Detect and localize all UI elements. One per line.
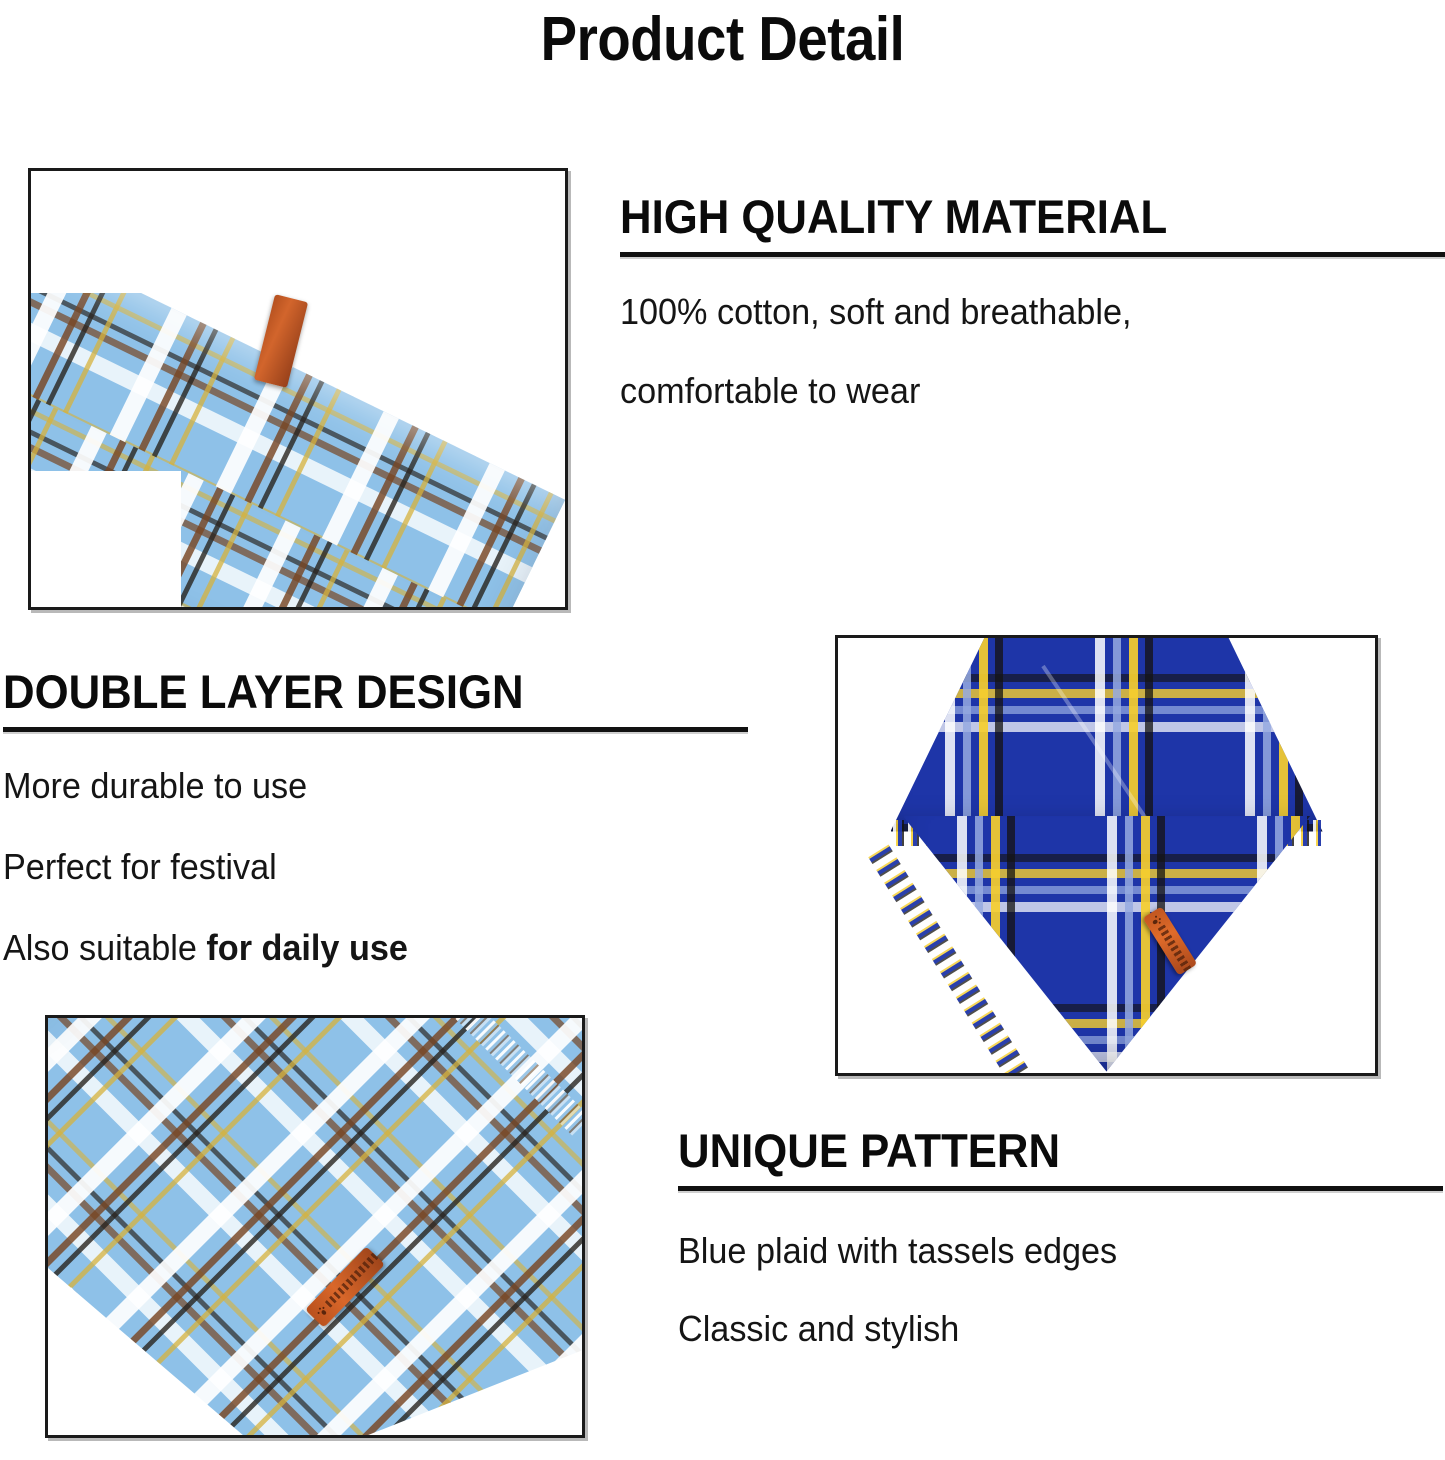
section-body: More durable to use Perfect for festival… bbox=[3, 768, 748, 966]
photo-background-mask bbox=[31, 471, 181, 610]
body-line: 100% cotton, soft and breathable, bbox=[620, 294, 1404, 330]
photo-background-mask bbox=[483, 171, 568, 241]
product-photo-blue-bandana bbox=[835, 635, 1378, 1076]
photo-canvas-folded-scarf bbox=[31, 171, 565, 607]
body-text-bold: for daily use bbox=[206, 927, 407, 968]
photo-canvas-flat-plaid bbox=[48, 1018, 582, 1435]
heading-divider bbox=[620, 252, 1445, 257]
paw-print-icon bbox=[315, 1305, 328, 1318]
photo-background-mask bbox=[31, 171, 149, 293]
section-heading: UNIQUE PATTERN bbox=[678, 1126, 1389, 1175]
page-title: Product Detail bbox=[87, 4, 1359, 75]
section-unique-pattern: UNIQUE PATTERN Blue plaid with tassels e… bbox=[678, 1126, 1443, 1347]
body-text-normal: Also suitable bbox=[3, 927, 206, 968]
product-photo-flat-plaid bbox=[45, 1015, 585, 1438]
bandana-lower-triangle bbox=[903, 816, 1311, 1072]
body-line: Perfect for festival bbox=[3, 849, 711, 885]
section-body: 100% cotton, soft and breathable, comfor… bbox=[620, 294, 1445, 409]
section-double-layer-design: DOUBLE LAYER DESIGN More durable to use … bbox=[3, 667, 748, 966]
heading-divider bbox=[678, 1186, 1443, 1191]
heading-divider bbox=[3, 727, 748, 732]
fold-crease bbox=[1041, 664, 1151, 824]
section-body: Blue plaid with tassels edges Classic an… bbox=[678, 1233, 1443, 1347]
photo-canvas-blue-bandana bbox=[838, 638, 1375, 1073]
body-line: comfortable to wear bbox=[620, 373, 1404, 409]
section-heading: DOUBLE LAYER DESIGN bbox=[3, 667, 696, 716]
section-high-quality-material: HIGH QUALITY MATERIAL 100% cotton, soft … bbox=[620, 192, 1445, 409]
product-photo-folded-scarf bbox=[28, 168, 568, 610]
body-line-mixed: Also suitable for daily use bbox=[3, 930, 711, 966]
bandana-upper-fold bbox=[891, 636, 1323, 832]
body-line: Blue plaid with tassels edges bbox=[678, 1233, 1405, 1269]
section-heading: HIGH QUALITY MATERIAL bbox=[620, 192, 1387, 241]
body-line: More durable to use bbox=[3, 768, 711, 804]
body-line: Classic and stylish bbox=[678, 1311, 1405, 1347]
bandana-shape bbox=[881, 635, 1333, 1076]
paw-print-icon bbox=[1150, 914, 1162, 926]
